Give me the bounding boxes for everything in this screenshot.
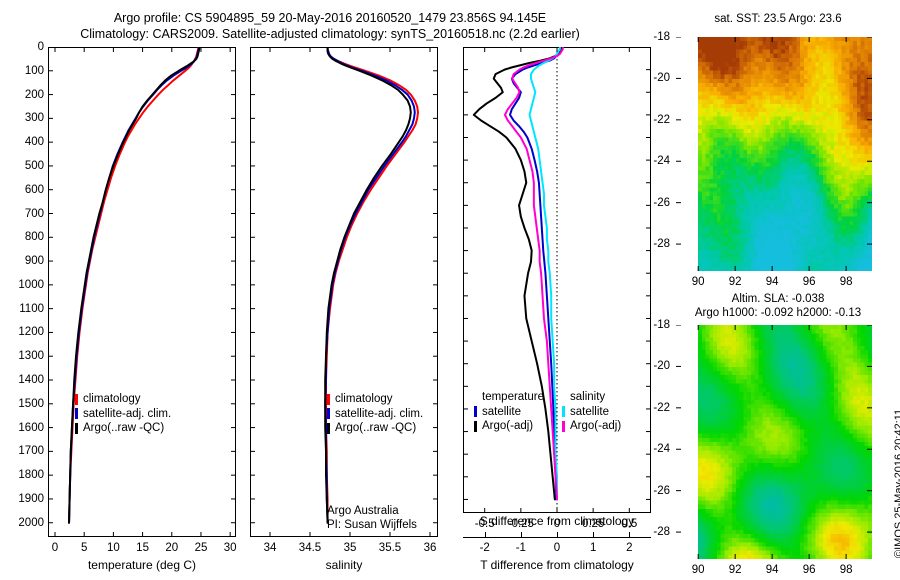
legend-label: satellite-adj. clim. — [83, 407, 171, 422]
temperature-xaxis-label: temperature (deg C) — [48, 558, 236, 572]
depth-tick-label: 1900 — [4, 493, 44, 505]
temperature-tick-label: 25 — [195, 542, 208, 554]
salinity-legend-entry: satellite-adj. clim. — [327, 407, 423, 422]
depth-tick-label: 2000 — [4, 517, 44, 529]
sla-lat-tick-label: -18 — [630, 319, 670, 331]
sla-lat-tick-label: -26 — [630, 485, 670, 497]
sst-lat-tick-label: -20 — [630, 72, 670, 84]
legend-color-swatch — [474, 421, 477, 432]
tdiff-tick-label: 0 — [554, 542, 560, 554]
sst-lon-tick-label: 96 — [803, 276, 816, 288]
sla-lat-tick-label: -28 — [630, 526, 670, 538]
depth-tick-label: 900 — [4, 255, 44, 267]
depth-tick-label: 1800 — [4, 469, 44, 481]
argo-heights-value: Argo h1000: -0.092 h2000: -0.13 — [664, 306, 892, 320]
depth-tick-label: 400 — [4, 136, 44, 148]
legend-label: Argo(..raw -QC) — [335, 421, 416, 436]
title-line-2: Climatology: CARS2009. Satellite-adjuste… — [0, 26, 660, 42]
sla-lon-tick-label: 98 — [840, 564, 853, 576]
salinity-tick-label: 34.5 — [299, 542, 321, 554]
temperature-tick-label: 10 — [107, 542, 120, 554]
sla-lon-tick-label: 96 — [803, 564, 816, 576]
legend-color-swatch — [474, 406, 477, 417]
legend-column-header: temperature — [482, 390, 544, 405]
depth-tick-label: 700 — [4, 208, 44, 220]
temperature-tick-label: 5 — [81, 542, 87, 554]
difference-legend: temperaturesatelliteArgo(-adj)salinitysa… — [474, 390, 639, 434]
salinity-tick-label: 36 — [424, 542, 437, 554]
sdiff-tick-label: -0.25 — [508, 518, 534, 530]
altim-sla-value: Altim. SLA: -0.038 — [664, 292, 892, 306]
salinity-legend-entry: Argo(..raw -QC) — [327, 421, 423, 436]
salinity-plot-curves — [250, 47, 438, 537]
imos-credit: ©IMOS 25-May-2016 20:42:11 — [893, 409, 900, 558]
legend-color-swatch — [327, 423, 330, 434]
temperature-legend-entry: Argo(..raw -QC) — [75, 421, 171, 436]
tdiff-tick-label: -1 — [516, 542, 526, 554]
legend-label: Argo(..raw -QC) — [83, 421, 164, 436]
legend-column-header: salinity — [570, 390, 621, 405]
pi-name-text: PI: Susan Wijffels — [327, 518, 417, 532]
legend-label: Argo(-adj) — [482, 419, 533, 434]
tdiff-tick-label: -2 — [480, 542, 490, 554]
depth-tick-label: 300 — [4, 112, 44, 124]
temperature-tick-label: 15 — [136, 542, 149, 554]
depth-tick-label: 1700 — [4, 445, 44, 457]
difference-taxis-label: T difference from climatology — [457, 558, 657, 572]
tdiff-axis-tick — [593, 532, 594, 537]
salinity-tick-label: 34 — [264, 542, 277, 554]
difference-legend-column: salinitysatelliteArgo(-adj) — [562, 390, 621, 434]
sla-lon-tick-label: 94 — [766, 564, 779, 576]
salinity-legend: climatologysatellite-adj. clim.Argo(..ra… — [327, 392, 423, 436]
sla-lat-tick-label: -22 — [630, 402, 670, 414]
legend-color-swatch — [75, 394, 78, 405]
sst-lon-tick-label: 92 — [729, 276, 742, 288]
temperature-legend-entry: satellite-adj. clim. — [75, 407, 171, 422]
tdiff-tick-label: 2 — [626, 542, 632, 554]
sst-lat-tick-label: -26 — [630, 197, 670, 209]
depth-tick-label: 1200 — [4, 326, 44, 338]
depth-tick-label: 1100 — [4, 303, 44, 315]
temperature-legend: climatologysatellite-adj. clim.Argo(..ra… — [75, 392, 171, 436]
depth-tick-label: 1400 — [4, 374, 44, 386]
difference-legend-column: temperaturesatelliteArgo(-adj) — [474, 390, 544, 434]
tdiff-axis-line — [463, 537, 651, 538]
legend-color-swatch — [75, 423, 78, 434]
depth-tick-label: 800 — [4, 231, 44, 243]
legend-color-swatch — [562, 421, 565, 432]
salinity-legend-entry: climatology — [327, 392, 423, 407]
depth-tick-label: 1600 — [4, 422, 44, 434]
legend-label: climatology — [83, 392, 141, 407]
sdiff-tick-label: 0.25 — [582, 518, 604, 530]
argo-australia-text: Argo Australia — [327, 504, 417, 518]
difference-legend-entry: satellite — [474, 405, 544, 420]
sla-lat-tick-label: -20 — [630, 360, 670, 372]
legend-color-swatch — [327, 408, 330, 419]
tdiff-axis-tick — [521, 532, 522, 537]
depth-tick-label: 200 — [4, 89, 44, 101]
difference-legend-entry: Argo(-adj) — [474, 419, 544, 434]
difference-legend-entry: satellite — [562, 405, 621, 420]
sst-lon-tick-label: 90 — [692, 276, 705, 288]
sla-lon-tick-label: 90 — [692, 564, 705, 576]
temperature-tick-label: 0 — [52, 542, 58, 554]
legend-color-swatch — [75, 408, 78, 419]
legend-label: climatology — [335, 392, 393, 407]
figure-title: Argo profile: CS 5904895_59 20-May-2016 … — [0, 10, 660, 42]
sla-map-title: Altim. SLA: -0.038 Argo h1000: -0.092 h2… — [664, 292, 892, 320]
legend-label: satellite — [570, 405, 609, 420]
temperature-plot-curves — [48, 47, 236, 537]
tdiff-axis-tick — [557, 532, 558, 537]
legend-label: satellite — [482, 405, 521, 420]
salinity-tick-label: 35 — [344, 542, 357, 554]
depth-tick-label: 1300 — [4, 350, 44, 362]
legend-color-swatch — [562, 406, 565, 417]
sst-lon-tick-label: 98 — [840, 276, 853, 288]
sst-lat-tick-label: -18 — [630, 31, 670, 43]
salinity-panel-footer: Argo Australia PI: Susan Wijffels — [327, 504, 417, 532]
sst-map-field — [676, 37, 872, 271]
sst-lat-tick-label: -24 — [630, 155, 670, 167]
depth-tick-label: 600 — [4, 184, 44, 196]
depth-tick-label: 500 — [4, 160, 44, 172]
salinity-xaxis-label: salinity — [250, 558, 438, 572]
depth-tick-label: 1500 — [4, 398, 44, 410]
tdiff-axis-tick — [485, 532, 486, 537]
difference-plot-curves — [463, 47, 651, 513]
sst-lat-tick-label: -28 — [630, 238, 670, 250]
sdiff-tick-label: -0.5 — [475, 518, 495, 530]
legend-label: satellite-adj. clim. — [335, 407, 423, 422]
legend-color-swatch — [327, 394, 330, 405]
sdiff-tick-label: 0 — [554, 518, 560, 530]
salinity-tick-label: 35.5 — [379, 542, 401, 554]
sla-map-field — [676, 325, 872, 559]
sst-lat-tick-label: -22 — [630, 114, 670, 126]
tdiff-tick-label: 1 — [590, 542, 596, 554]
sla-lon-tick-label: 92 — [729, 564, 742, 576]
depth-tick-label: 0 — [4, 41, 44, 53]
sla-lat-tick-label: -24 — [630, 443, 670, 455]
temperature-tick-label: 20 — [165, 542, 178, 554]
sst-lon-tick-label: 94 — [766, 276, 779, 288]
title-line-1: Argo profile: CS 5904895_59 20-May-2016 … — [0, 10, 660, 26]
difference-legend-entry: Argo(-adj) — [562, 419, 621, 434]
temperature-tick-label: 30 — [224, 542, 237, 554]
temperature-legend-entry: climatology — [75, 392, 171, 407]
legend-label: Argo(-adj) — [570, 419, 621, 434]
sst-map-title: sat. SST: 23.5 Argo: 23.6 — [664, 12, 892, 26]
depth-tick-label: 1000 — [4, 279, 44, 291]
depth-tick-label: 100 — [4, 65, 44, 77]
